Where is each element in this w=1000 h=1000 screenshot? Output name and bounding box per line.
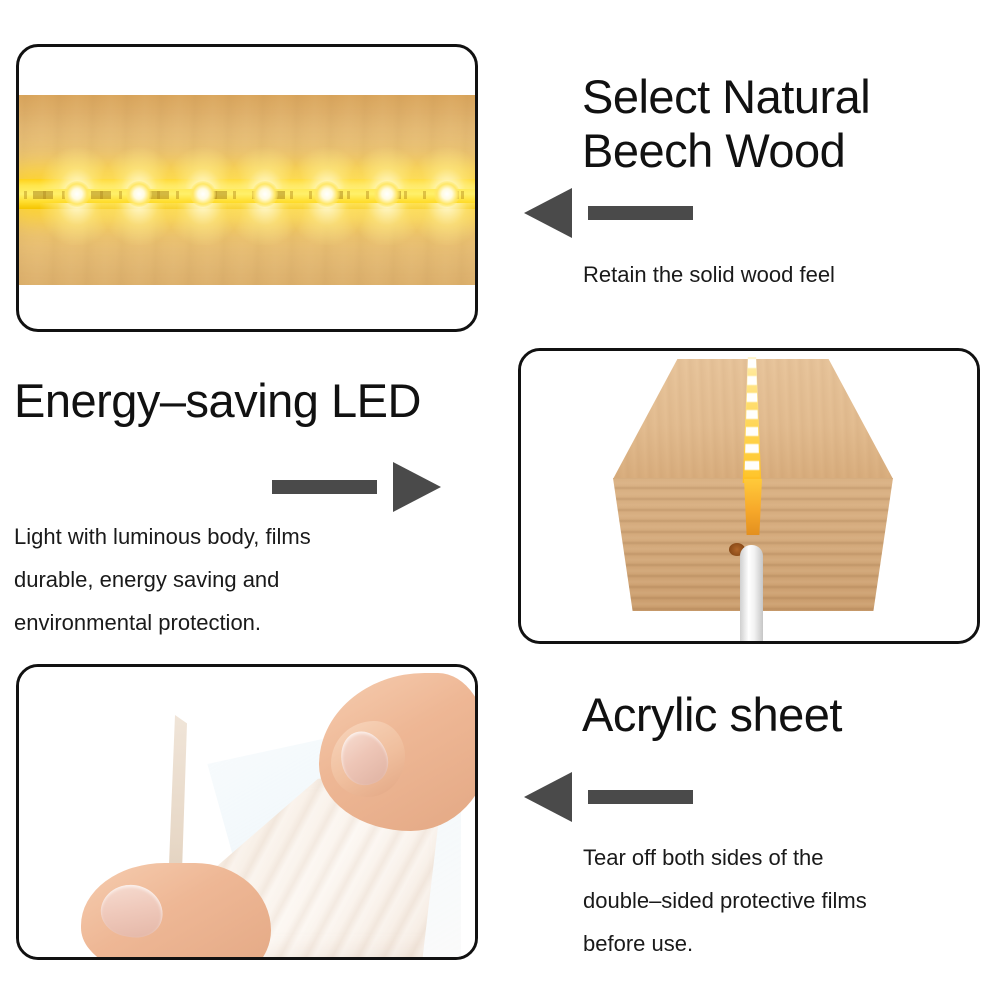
arrow-head-icon	[524, 772, 572, 822]
arrow-left-acrylic	[524, 772, 693, 822]
caption-tear-off-protective-films: Tear off both sides of the double–sided …	[583, 836, 983, 965]
led-point	[190, 181, 216, 207]
led-point	[314, 181, 340, 207]
led-point	[126, 181, 152, 207]
infographic-page: { "page": { "title": "LED Wood Lamp Feat…	[0, 0, 1000, 1000]
photo-panel-led-strip	[16, 44, 478, 332]
caption-luminous-body-films: Light with luminous body, films durable,…	[14, 515, 434, 644]
heading-energy-saving-led: Energy–saving LED	[14, 374, 494, 428]
photo-panel-wood-block	[518, 348, 980, 644]
led-point	[64, 181, 90, 207]
arrow-shaft	[588, 790, 693, 804]
led-point	[252, 181, 278, 207]
arrow-head-icon	[393, 462, 441, 512]
caption-retain-solid-wood-feel: Retain the solid wood feel	[583, 253, 983, 296]
led-point	[434, 181, 460, 207]
photo-panel-acrylic-sheet	[16, 664, 478, 960]
heading-acrylic-sheet: Acrylic sheet	[582, 688, 992, 742]
arrow-left-wood	[524, 188, 693, 238]
led-flare-down	[410, 203, 478, 245]
arrow-right-led	[272, 462, 441, 512]
wood-block-photo	[521, 351, 977, 641]
arrow-shaft	[272, 480, 377, 494]
led-flare-down	[102, 203, 176, 245]
acrylic-peel-photo	[19, 667, 475, 957]
arrow-shaft	[588, 206, 693, 220]
heading-select-natural-beech-wood: Select Natural Beech Wood	[582, 70, 992, 178]
led-point	[374, 181, 400, 207]
led-strip-photo	[19, 95, 475, 285]
power-cable	[740, 545, 763, 644]
arrow-head-icon	[524, 188, 572, 238]
